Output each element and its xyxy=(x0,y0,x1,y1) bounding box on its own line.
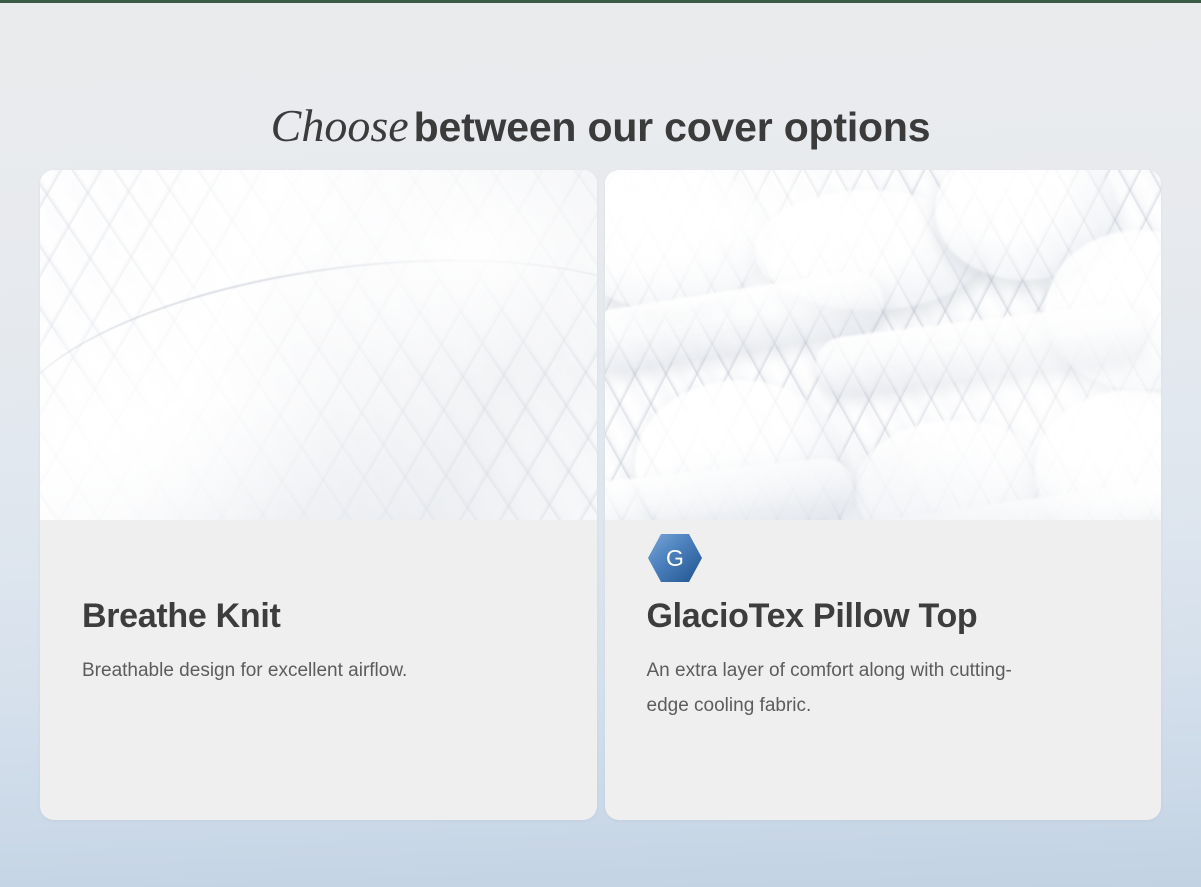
cover-options-section: Choosebetween our cover options Breathe … xyxy=(0,0,1201,887)
glaciotex-badge-letter: G xyxy=(666,545,684,571)
cover-photo-breathe-knit xyxy=(40,170,597,520)
cover-option-body-breathe-knit: Breathe Knit Breathable design for excel… xyxy=(40,520,597,820)
knit-fabric-highlight xyxy=(40,170,597,520)
cover-options-card-grid: Breathe Knit Breathable design for excel… xyxy=(40,170,1161,820)
pillow-top-highlight xyxy=(605,170,1162,520)
cover-photo-glaciotex-pillow-top xyxy=(605,170,1162,520)
top-accent-bar xyxy=(0,0,1201,3)
cover-option-body-glaciotex-pillow-top: G GlacioTex Pillow Top An extra layer of… xyxy=(605,520,1162,820)
badge-placeholder xyxy=(82,520,555,596)
badge-slot: G xyxy=(647,520,1120,596)
page-title: Choosebetween our cover options xyxy=(0,98,1201,155)
cover-option-title: GlacioTex Pillow Top xyxy=(647,596,1120,636)
cover-option-card-glaciotex-pillow-top[interactable]: G GlacioTex Pillow Top An extra layer of… xyxy=(605,170,1162,820)
cover-option-card-breathe-knit[interactable]: Breathe Knit Breathable design for excel… xyxy=(40,170,597,820)
page-title-rest: between our cover options xyxy=(414,104,931,150)
cover-option-description: Breathable design for excellent airflow. xyxy=(82,636,482,688)
glaciotex-hexagon-badge-icon: G xyxy=(647,533,703,583)
cover-option-description: An extra layer of comfort along with cut… xyxy=(647,636,1047,723)
cover-option-title: Breathe Knit xyxy=(82,596,555,636)
page-title-emphasis: Choose xyxy=(271,100,414,151)
